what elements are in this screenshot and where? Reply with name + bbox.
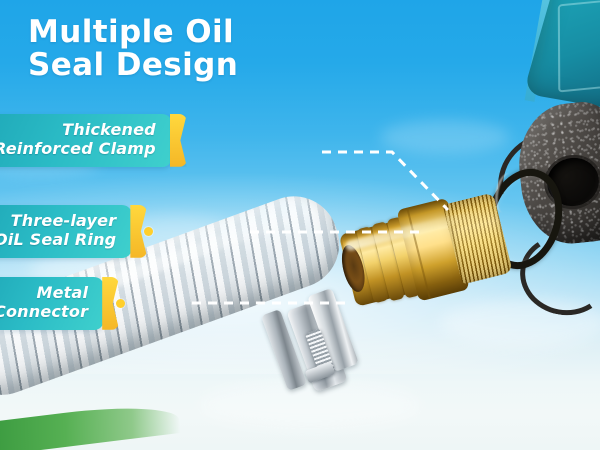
callout-three-layer-oil-seal-ring[interactable]: Three-layer OiL Seal Ring xyxy=(0,205,153,258)
callout-metal-connector[interactable]: Metal Connector xyxy=(0,277,125,330)
cloud xyxy=(380,120,510,154)
cloud xyxy=(200,380,420,430)
callout-label-text: Metal Connector xyxy=(0,277,104,330)
page-title: Multiple Oil Seal Design xyxy=(28,16,238,83)
callout-flag-icon xyxy=(170,114,187,167)
callout-flag-icon xyxy=(102,277,119,330)
callout-label-text: Thickened Reinforced Clamp xyxy=(0,114,172,167)
callout-label-text: Three-layer OiL Seal Ring xyxy=(0,205,132,258)
callout-thickened-reinforced-clamp[interactable]: Thickened Reinforced Clamp xyxy=(0,114,187,167)
callout-flag-icon xyxy=(130,205,147,258)
infographic-canvas: Multiple Oil Seal Design Thickened Reinf… xyxy=(0,0,600,450)
